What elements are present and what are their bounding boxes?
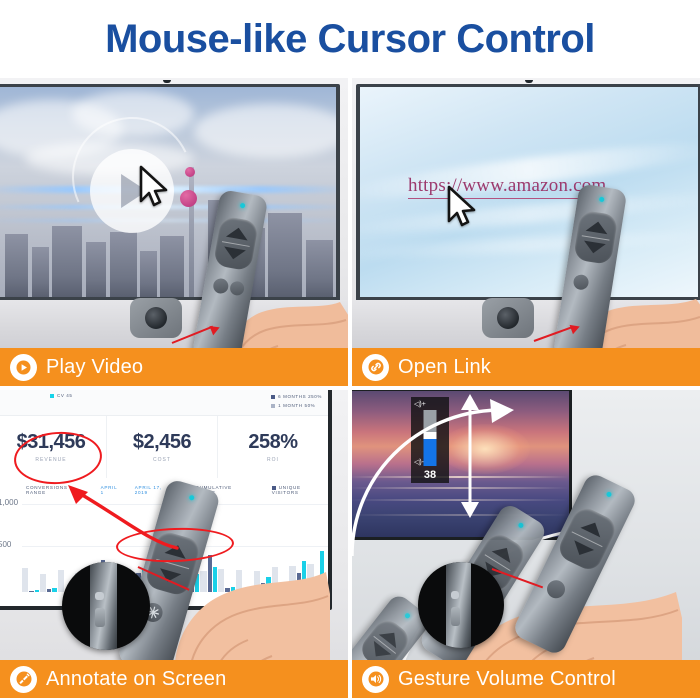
- link-chain-icon: [362, 354, 389, 381]
- building: [52, 226, 82, 297]
- caption-open-link: Open Link: [352, 348, 700, 386]
- extra-button[interactable]: [229, 280, 245, 296]
- zoom-inset-side-button: [62, 562, 150, 650]
- building: [86, 242, 106, 297]
- bar: [40, 574, 46, 592]
- nav-pad[interactable]: [573, 210, 618, 265]
- y-tick-500: 500: [0, 540, 11, 549]
- laser-button[interactable]: [572, 274, 589, 291]
- status-led: [606, 491, 613, 498]
- legend-row: 1 MONTH 50%: [271, 401, 322, 410]
- chevron-up-button[interactable]: [586, 220, 609, 234]
- chevron-down-button[interactable]: [582, 241, 605, 255]
- annotation-arrow: [52, 476, 182, 556]
- caption-annotate-on-screen: Annotate on Screen: [0, 660, 348, 698]
- status-led: [517, 522, 524, 529]
- bar: [22, 568, 28, 592]
- zoom-inset-side-button: [418, 562, 504, 648]
- chevron-up-button[interactable]: [580, 518, 605, 538]
- kpi-cost: $2,456 COST: [107, 416, 218, 478]
- amazon-link[interactable]: https://www.amazon.com: [408, 175, 606, 199]
- cv-tag: CV 45: [50, 393, 73, 398]
- panel-play-video: Play Video: [0, 78, 348, 386]
- cv-swatch: [50, 394, 54, 398]
- speaker-cone: [145, 307, 167, 329]
- play-circle-icon: [10, 354, 37, 381]
- laser-button[interactable]: [212, 277, 229, 294]
- building: [160, 236, 184, 297]
- caption-gesture-volume-control: Gesture Volume Control: [352, 660, 700, 698]
- side-button-small: [95, 592, 104, 600]
- bar-group: [22, 504, 39, 592]
- legend-swatch: [271, 395, 275, 399]
- bar: [47, 589, 51, 592]
- building: [110, 232, 137, 297]
- pen-highlighter-icon: [10, 666, 37, 693]
- chevron-up-button: [379, 626, 403, 648]
- legend-swatch: [271, 404, 275, 408]
- panel-gesture-volume-control: ◁)+ ◁)- 38: [352, 390, 700, 698]
- building: [32, 247, 49, 297]
- nav-pad[interactable]: [213, 216, 259, 272]
- legend-row: 6 MONTHS 250%: [271, 392, 322, 401]
- series-legend-unique: UNIQUE VISITORS: [272, 485, 328, 495]
- nav-divider: [581, 235, 610, 241]
- caption-label: Play Video: [46, 356, 143, 379]
- speaker-box: [482, 298, 534, 338]
- bar: [35, 590, 39, 592]
- speaker-volume-icon: [362, 666, 389, 693]
- chevron-down-button[interactable]: [222, 247, 246, 262]
- speaker-box: [130, 298, 182, 338]
- product-feature-infographic: Mouse-like Cursor Control: [0, 0, 700, 700]
- dashboard-legend: 6 MONTHS 250% 1 MONTH 50%: [271, 392, 322, 410]
- bar: [29, 591, 33, 592]
- building: [5, 234, 29, 297]
- remote-side-closeup: [90, 562, 116, 650]
- chevron-down-button[interactable]: [569, 540, 594, 560]
- status-led: [240, 203, 246, 209]
- status-led: [189, 495, 195, 501]
- y-tick-1000: 1,000: [0, 498, 18, 507]
- feature-grid: Play Video https://www.amazon.com: [0, 78, 700, 700]
- side-button-small: [451, 591, 460, 599]
- caption-label: Gesture Volume Control: [398, 668, 616, 691]
- bar: [58, 570, 64, 592]
- status-led: [599, 197, 605, 203]
- kpi-label: ROI: [267, 457, 279, 463]
- caption-play-video: Play Video: [0, 348, 348, 386]
- bar: [52, 588, 56, 592]
- chevron-up-button[interactable]: [226, 226, 250, 241]
- side-button-long: [95, 608, 105, 627]
- page-title-bar: Mouse-like Cursor Control: [0, 0, 700, 78]
- remote-side-closeup: [446, 562, 472, 648]
- side-button-long: [451, 607, 460, 626]
- kpi-roi: 258% ROI: [218, 416, 328, 478]
- speaker-cone: [497, 307, 519, 329]
- building: [140, 251, 157, 297]
- page-title: Mouse-like Cursor Control: [105, 17, 595, 62]
- kpi-label: COST: [153, 457, 171, 463]
- panel-annotate-on-screen: CV 45 6 MONTHS 250% 1 MONTH 50% $31,456 …: [0, 390, 348, 698]
- panel-open-link: https://www.amazon.com: [352, 78, 700, 386]
- status-led: [404, 612, 411, 619]
- dashboard-topbar: CV 45 6 MONTHS 250% 1 MONTH 50%: [0, 390, 328, 416]
- caption-label: Annotate on Screen: [46, 668, 226, 691]
- caption-label: Open Link: [398, 356, 491, 379]
- kpi-value: 258%: [248, 431, 297, 454]
- laser-button[interactable]: [544, 577, 568, 601]
- kpi-value: $2,456: [133, 431, 191, 454]
